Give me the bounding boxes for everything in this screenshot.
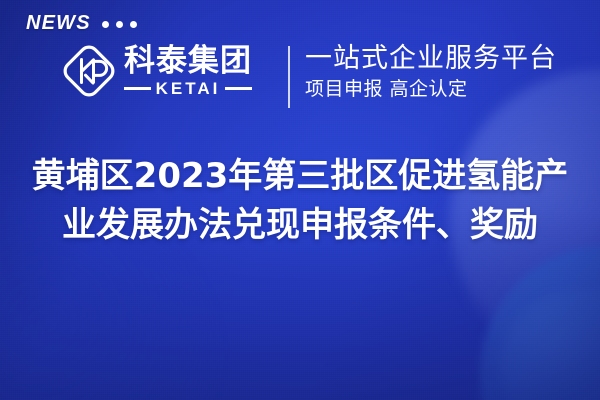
brand-name-en: KETAI [156,80,221,97]
eyebrow-dots [102,21,137,28]
news-eyebrow: NEWS [26,13,137,33]
brand-name-cn: 科泰集团 [124,46,252,78]
tagline-block: 一站式企业服务平台 项目申报 高企认定 [305,44,557,101]
tagline-sub: 项目申报 高企认定 [305,78,557,101]
brand-rule-left [124,87,151,90]
lockup-divider [288,46,290,108]
news-eyebrow-label: NEWS [26,13,91,33]
eyebrow-dot-icon [102,21,109,28]
brand-name-en-row: KETAI [124,80,252,97]
headline: 黄埔区2023年第三批区促进氢能产 业发展办法兑现申报条件、奖励 [0,152,600,250]
brand-lockup: 科泰集团 KETAI [60,42,252,100]
headline-line-1: 黄埔区2023年第三批区促进氢能产 [28,152,572,201]
eyebrow-dot-icon [116,21,123,28]
news-banner: NEWS [0,0,600,400]
headline-line-2: 业发展办法兑现申报条件、奖励 [28,201,572,250]
tagline-main: 一站式企业服务平台 [305,44,557,74]
brand-text-block: 科泰集团 KETAI [124,46,252,97]
eyebrow-dot-icon [130,21,137,28]
brand-rule-right [225,87,252,90]
ketai-diamond-monogram-icon [60,42,118,100]
